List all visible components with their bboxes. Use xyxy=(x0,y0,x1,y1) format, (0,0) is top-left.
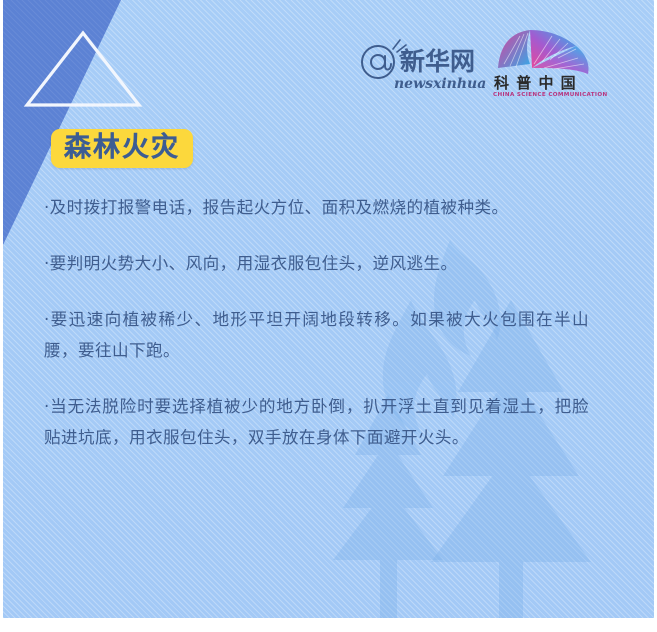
advice-item: ·当无法脱险时要选择植被少的地方卧倒，扒开浮土直到见着湿土，把脸贴进坑底，用衣服… xyxy=(44,391,589,453)
header-logos: 新华网 newsxinhua xyxy=(3,0,654,112)
kepu-logo: 科 普 中 国 CHINA SCIENCE COMMUNICATION xyxy=(490,24,610,98)
kepu-logo-en: CHINA SCIENCE COMMUNICATION xyxy=(493,92,608,98)
advice-item: ·及时拨打报警电话，报告起火方位、面积及燃烧的植被种类。 xyxy=(44,192,589,223)
xinhua-logo: 新华网 newsxinhua xyxy=(358,36,486,94)
fan-wing-mark-icon xyxy=(498,30,589,74)
xinhua-logo-cn: 新华网 xyxy=(400,47,475,76)
advice-item: ·要迅速向植被稀少、地形平坦开阔地段转移。如果被大火包围在半山腰，要往山下跑。 xyxy=(44,304,589,366)
page-title-badge: 森林火灾 xyxy=(51,129,193,168)
advice-item: ·要判明火势大小、风向，用湿衣服包住头，逆风逃生。 xyxy=(44,248,589,279)
xinhua-logo-en: newsxinhua xyxy=(394,76,486,92)
advice-list: ·及时拨打报警电话，报告起火方位、面积及燃烧的植被种类。 ·要判明火势大小、风向… xyxy=(44,192,589,453)
page-title: 森林火灾 xyxy=(64,134,180,161)
kepu-logo-cn: 科 普 中 国 xyxy=(494,74,577,92)
poster-canvas: 新华网 newsxinhua xyxy=(3,0,654,618)
at-symbol-icon xyxy=(362,46,394,78)
